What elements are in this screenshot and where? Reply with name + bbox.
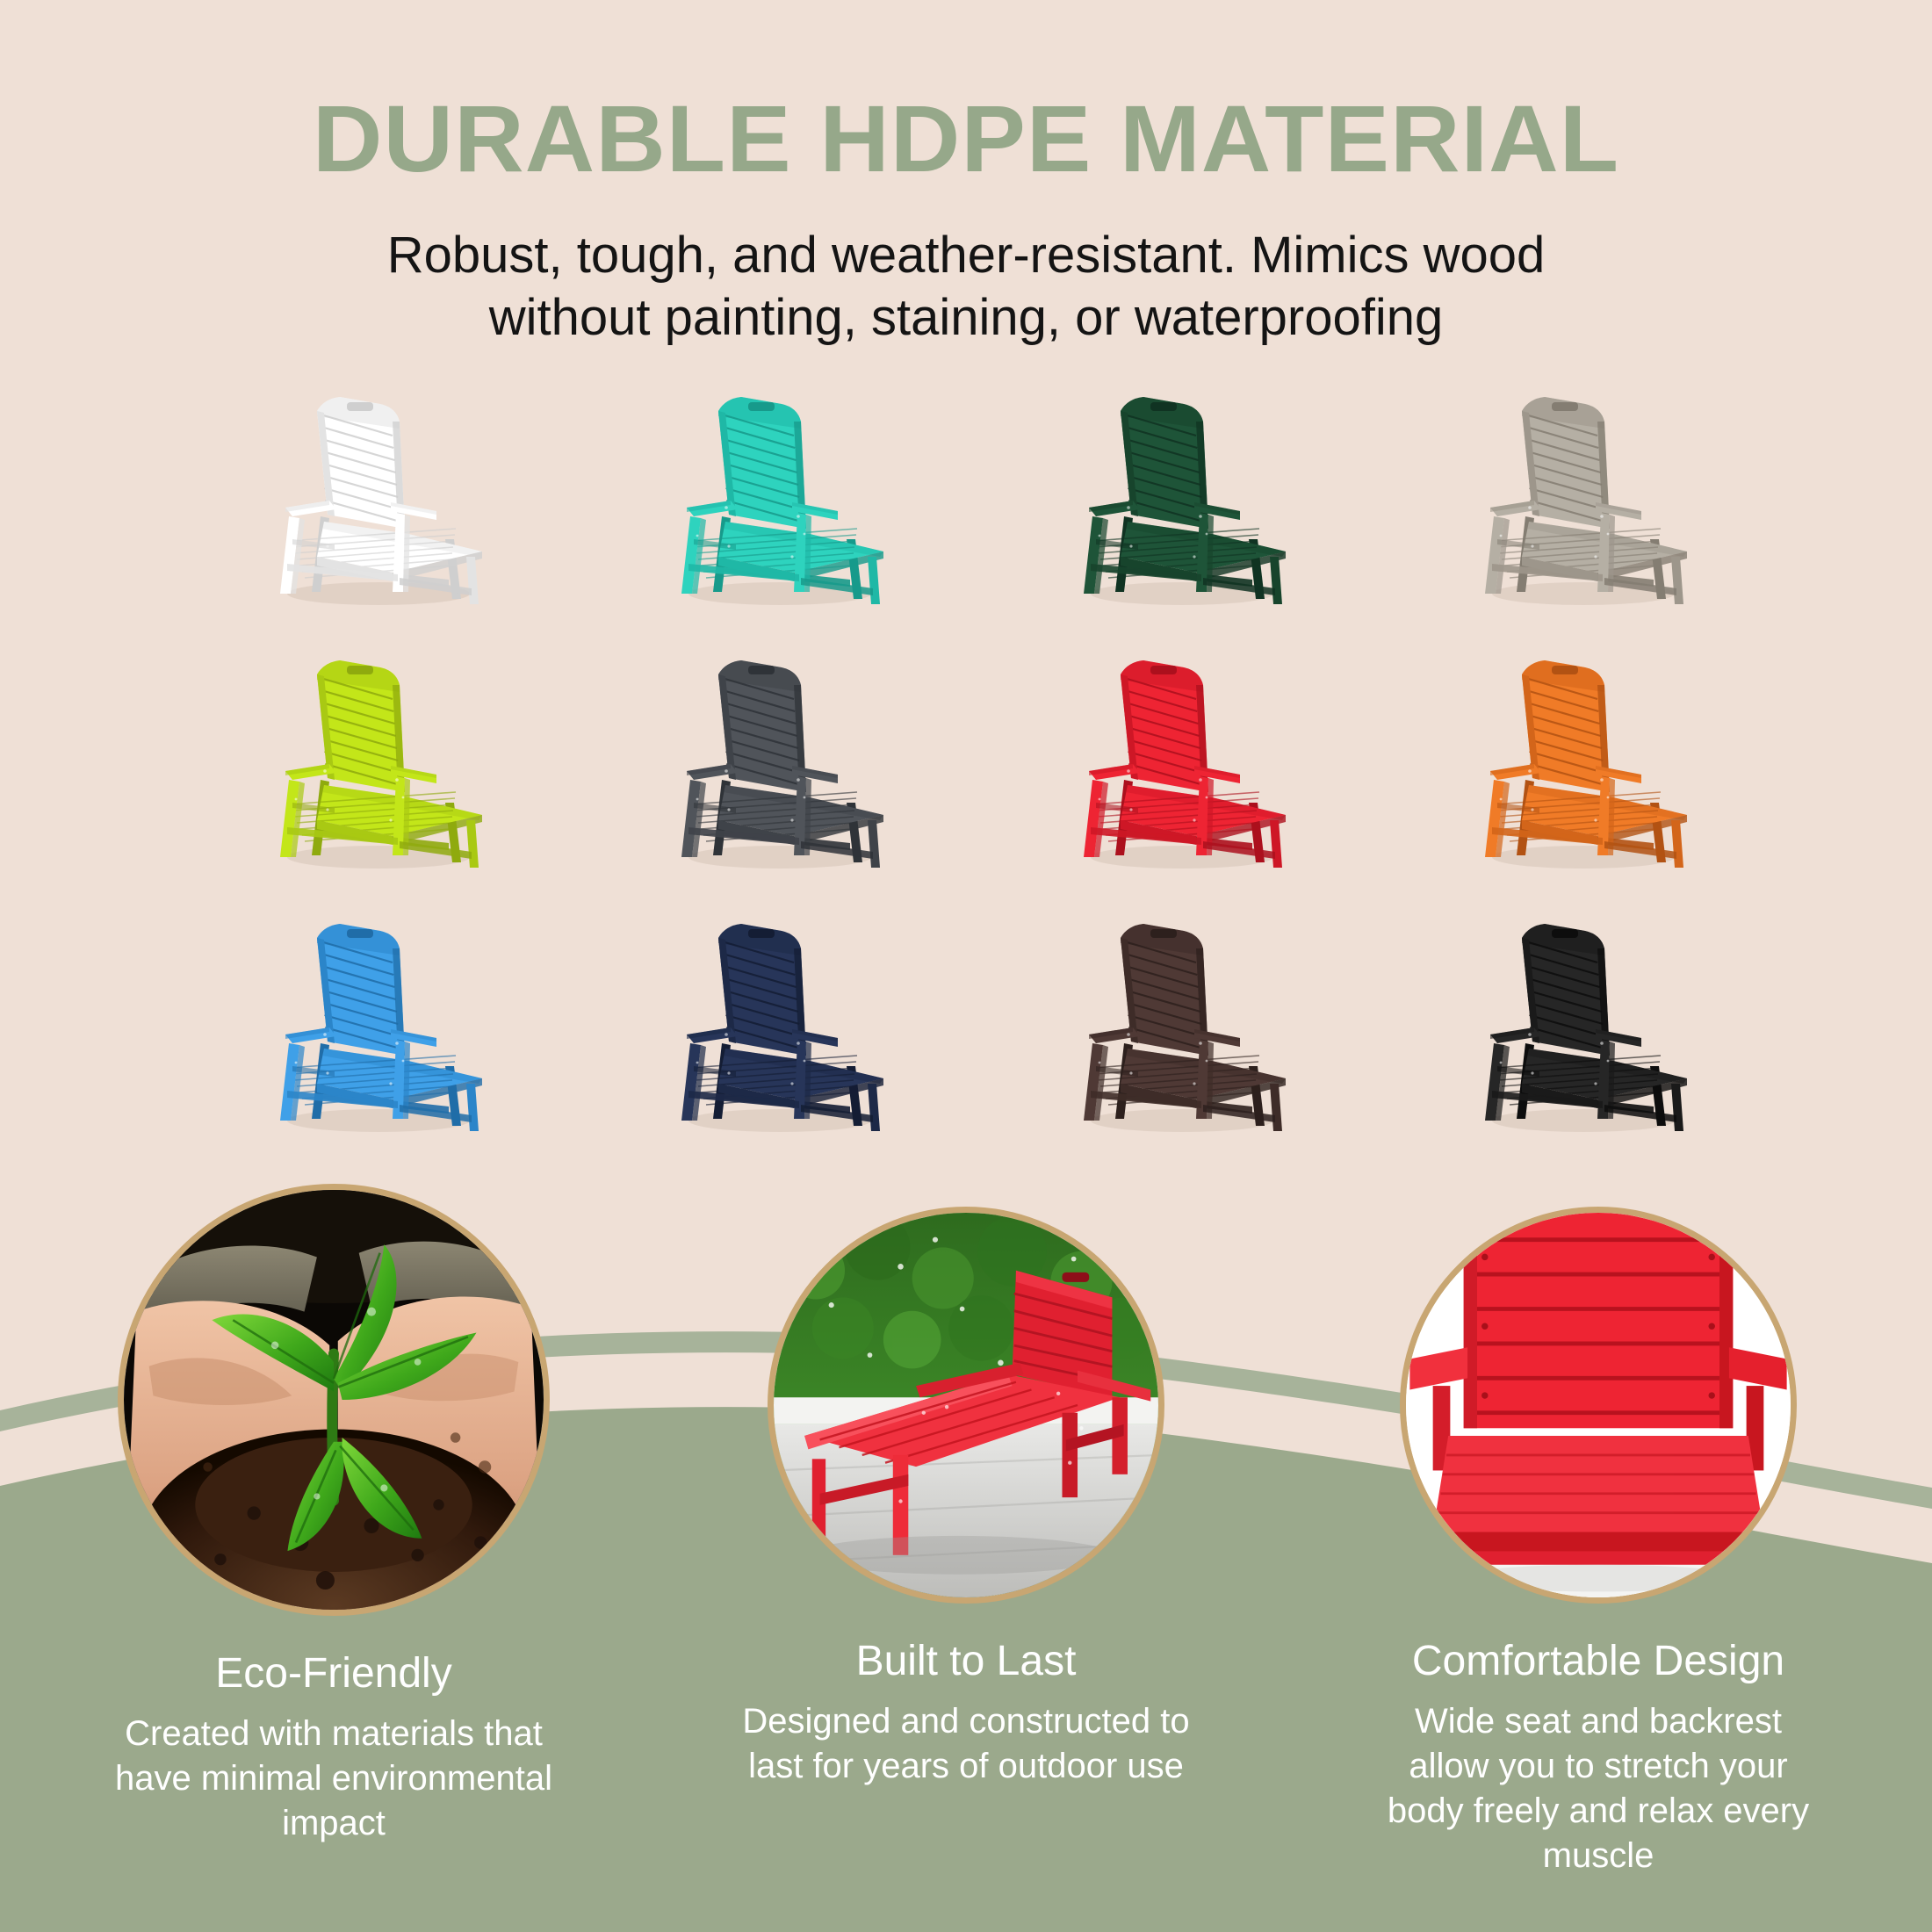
chair-swatch-taupe-gray[interactable]	[1373, 367, 1775, 631]
chair-sky blue	[236, 912, 500, 1140]
chair-black	[1441, 912, 1705, 1140]
feature-eco-friendly: Eco-Friendly Created with materials that…	[97, 1184, 571, 1879]
chair-swatch-white[interactable]	[167, 367, 569, 631]
features-section: Eco-Friendly Created with materials that…	[0, 1184, 1932, 1879]
chair-turquoise	[638, 385, 901, 613]
feature-image-comfortable-design	[1400, 1207, 1797, 1604]
infographic-canvas: DURABLE HDPE MATERIAL Robust, tough, and…	[0, 0, 1932, 1932]
chair-orange	[1441, 648, 1705, 876]
chair-swatch-orange[interactable]	[1373, 631, 1775, 894]
chair-color-grid	[167, 367, 1774, 1157]
page-title: DURABLE HDPE MATERIAL	[0, 91, 1932, 186]
chair-swatch-red[interactable]	[970, 631, 1373, 894]
chair-swatch-lime-green[interactable]	[167, 631, 569, 894]
chair-red	[1040, 648, 1303, 876]
subtitle-line-1: Robust, tough, and weather-resistant. Mi…	[0, 225, 1932, 287]
feature-title: Comfortable Design	[1412, 1639, 1784, 1685]
chair-lime green	[236, 648, 500, 876]
header: DURABLE HDPE MATERIAL Robust, tough, and…	[0, 0, 1932, 350]
chair-swatch-dark-brown[interactable]	[970, 894, 1373, 1157]
feature-description: Wide seat and backrest allow you to stre…	[1370, 1699, 1827, 1879]
page-subtitle: Robust, tough, and weather-resistant. Mi…	[0, 225, 1932, 350]
feature-title: Eco-Friendly	[215, 1651, 451, 1698]
hands-holding-seedling-icon	[124, 1190, 544, 1610]
chair-swatch-navy-blue[interactable]	[569, 894, 971, 1157]
chair-dark gray	[638, 648, 901, 876]
feature-built-to-last: Built to Last Designed and constructed t…	[729, 1184, 1203, 1879]
chair-white	[236, 385, 500, 613]
feature-description: Created with materials that have minimal…	[105, 1712, 562, 1847]
chair-swatch-turquoise[interactable]	[569, 367, 971, 631]
feature-title: Built to Last	[856, 1639, 1077, 1685]
chair-taupe gray	[1441, 385, 1705, 613]
chair-dark green	[1040, 385, 1303, 613]
chair-swatch-dark-gray[interactable]	[569, 631, 971, 894]
chair-swatch-dark-green[interactable]	[970, 367, 1373, 631]
red-chaise-on-patio-icon	[774, 1213, 1158, 1597]
chair-swatch-sky-blue[interactable]	[167, 894, 569, 1157]
feature-description: Designed and constructed to last for yea…	[738, 1699, 1194, 1789]
feature-image-built-to-last	[768, 1207, 1164, 1604]
red-chair-backrest-closeup-icon	[1406, 1213, 1791, 1597]
chair-swatch-black[interactable]	[1373, 894, 1775, 1157]
feature-image-eco-friendly	[118, 1184, 550, 1616]
chair-navy blue	[638, 912, 901, 1140]
subtitle-line-2: without painting, staining, or waterproo…	[0, 287, 1932, 350]
chair-dark brown	[1040, 912, 1303, 1140]
feature-comfortable-design: Comfortable Design Wide seat and backres…	[1361, 1184, 1835, 1879]
